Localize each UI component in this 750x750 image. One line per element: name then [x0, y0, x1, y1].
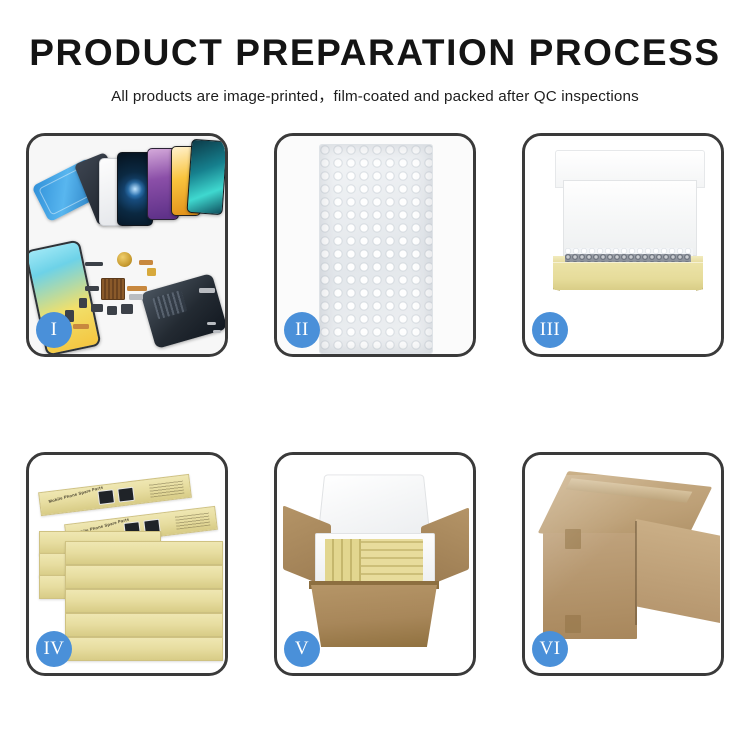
screw-part-1	[207, 322, 216, 325]
carton-tab-upper	[565, 529, 581, 549]
retail-box-right-3	[65, 565, 223, 589]
process-step-6[interactable]: VI	[522, 452, 724, 676]
step-badge-5: V	[284, 631, 320, 667]
retail-box-top-left: Mobile Phone Spare Parts	[38, 474, 192, 516]
page-title: PRODUCT PREPARATION PROCESS	[0, 34, 750, 73]
teal-display-phone	[186, 139, 225, 215]
step-badge-1: I	[36, 312, 72, 348]
process-step-3[interactable]: III	[522, 133, 724, 357]
screw-part-2	[213, 330, 221, 333]
yellow-box-front	[553, 262, 703, 290]
bracket-part	[85, 262, 103, 266]
step-badge-6: VI	[532, 631, 568, 667]
box-label-text: Mobile Phone Spare Parts	[48, 485, 104, 504]
step-badge-4: IV	[36, 631, 72, 667]
bubble-wrap-sheet	[319, 144, 433, 354]
carton-vertical-edge	[635, 521, 637, 625]
retail-box-right-6	[65, 637, 223, 661]
antenna-cable-part	[73, 324, 89, 329]
process-step-grid: I II	[0, 133, 750, 676]
box-spec-lines	[175, 512, 210, 530]
process-step-5[interactable]: V	[274, 452, 476, 676]
box-thumb-2	[117, 487, 135, 503]
vibrator-part	[107, 306, 117, 315]
metal-shield-part	[129, 294, 143, 300]
box-spec-lines	[149, 480, 184, 498]
carton-front	[311, 585, 437, 647]
retail-box-right-2	[65, 541, 223, 565]
step-badge-3: III	[532, 312, 568, 348]
retail-box-right-5	[65, 613, 223, 637]
chip-grid-part	[101, 278, 125, 300]
page-subtitle: All products are image-printed，film-coat…	[0, 84, 750, 106]
opened-phone-chassis	[140, 273, 225, 349]
process-step-4[interactable]: Mobile Phone Spare Parts Mobile Phone Sp…	[26, 452, 228, 676]
small-strip-part	[85, 286, 99, 291]
speaker-part	[117, 252, 132, 267]
retail-box-right-4	[65, 589, 223, 613]
flex-cable-part-1	[139, 260, 153, 265]
battery-connector-part	[121, 304, 133, 314]
box-thumb-1	[97, 489, 115, 505]
page-header: PRODUCT PREPARATION PROCESS All products…	[0, 0, 750, 106]
button-part	[79, 298, 87, 308]
process-row-bottom: Mobile Phone Spare Parts Mobile Phone Sp…	[0, 452, 750, 676]
yellow-boxes-inside-left	[325, 539, 361, 581]
connector-part-1	[147, 268, 156, 276]
process-step-1[interactable]: I	[26, 133, 228, 357]
box-lid-inner	[563, 180, 697, 256]
foam-lid	[317, 474, 430, 537]
carton-front-face	[543, 533, 637, 639]
process-step-2[interactable]: II	[274, 133, 476, 357]
carton-side-face	[636, 519, 720, 623]
tweezers-part	[199, 288, 215, 293]
step-badge-2: II	[284, 312, 320, 348]
carton-tab-lower	[565, 615, 581, 633]
process-row-top: I II	[0, 133, 750, 357]
flex-cable-part-2	[127, 286, 147, 291]
camera-module-part	[91, 304, 103, 312]
